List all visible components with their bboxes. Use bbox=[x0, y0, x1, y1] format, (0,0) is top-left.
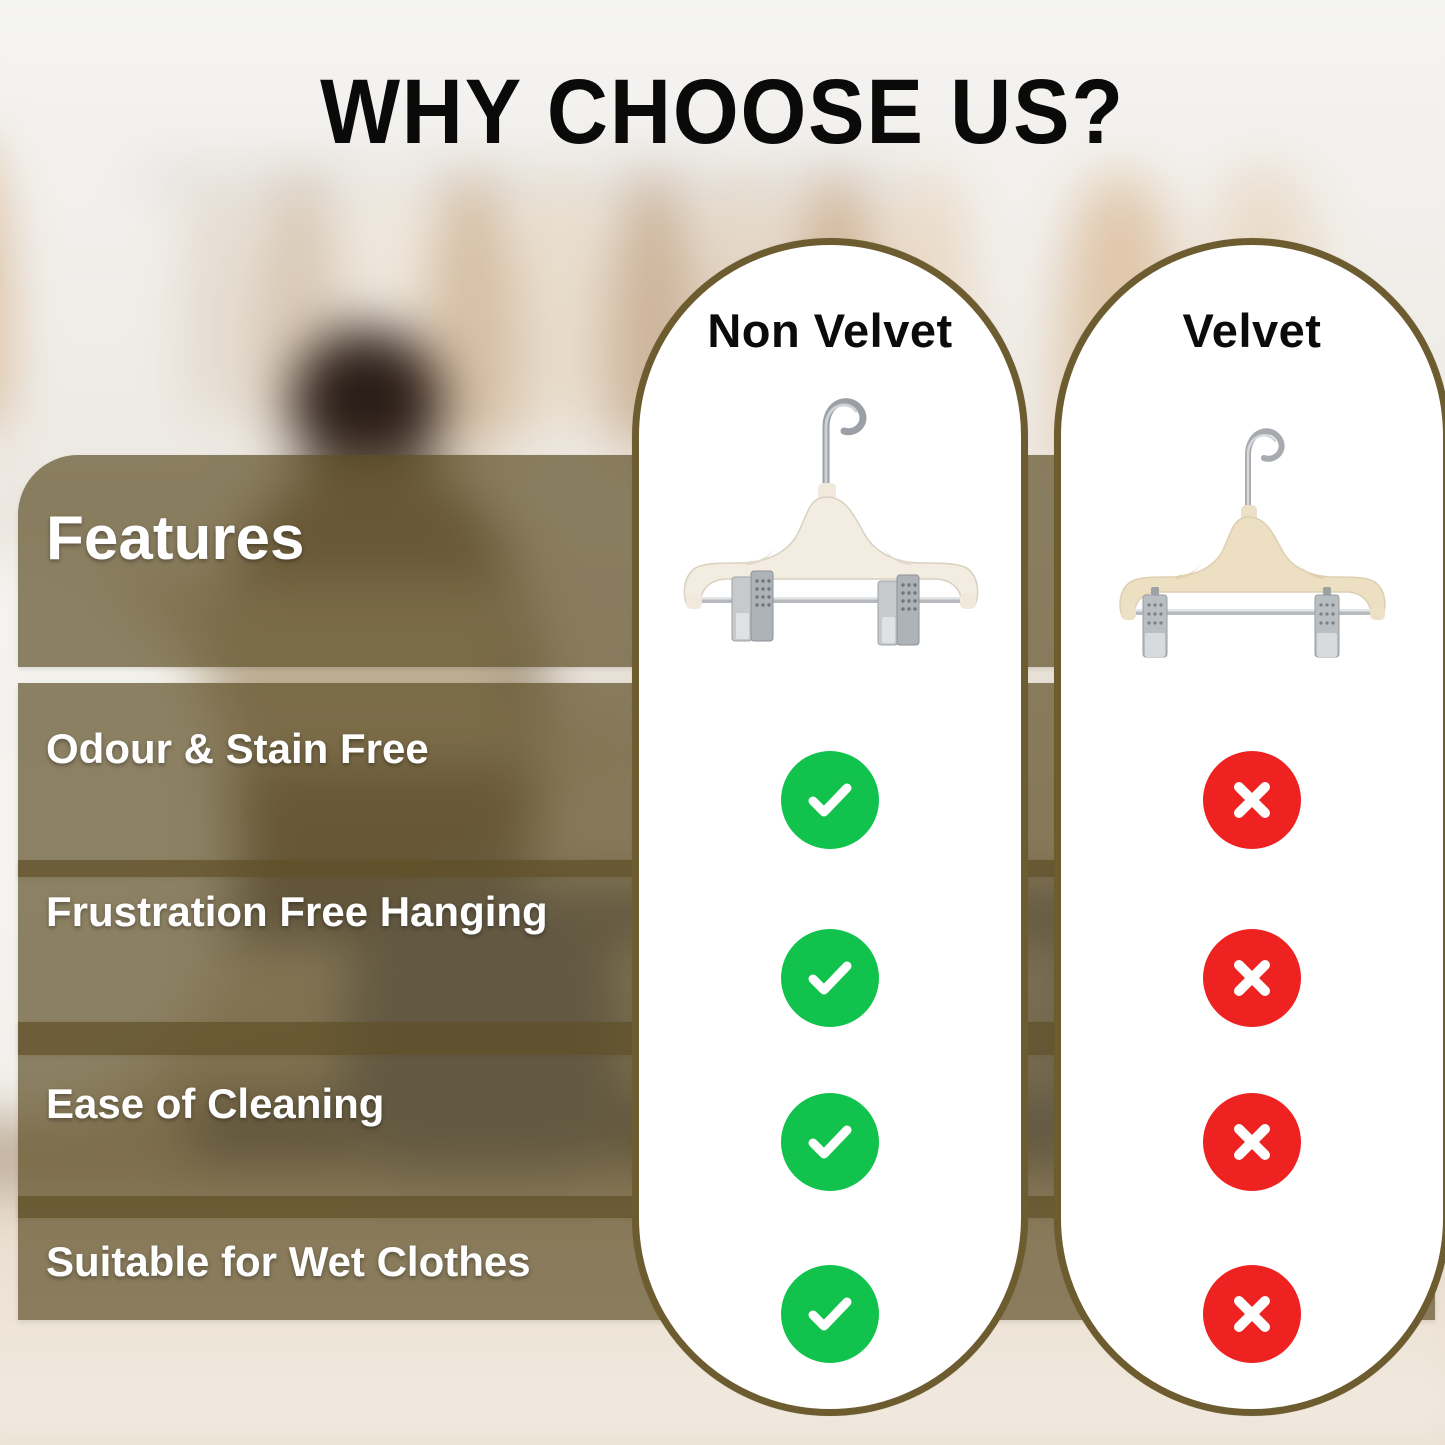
why-choose-us-comparison-graphic: WHY CHOOSE US? Features Odour & Stain Fr… bbox=[0, 0, 1445, 1445]
features-header-label: Features bbox=[46, 503, 304, 574]
page-title: WHY CHOOSE US? bbox=[58, 66, 1387, 158]
check-circle-icon bbox=[781, 1093, 879, 1191]
cross-circle-icon bbox=[1203, 751, 1301, 849]
cross-circle-icon bbox=[1203, 1265, 1301, 1363]
feature-label-0: Odour & Stain Free bbox=[46, 725, 429, 773]
cross-circle-icon bbox=[1203, 1093, 1301, 1191]
check-circle-icon bbox=[781, 929, 879, 1027]
velvet-mark-column bbox=[1061, 245, 1443, 1409]
cross-circle-icon bbox=[1203, 929, 1301, 1027]
feature-label-3: Suitable for Wet Clothes bbox=[46, 1238, 531, 1286]
check-circle-icon bbox=[781, 1265, 879, 1363]
feature-label-2: Ease of Cleaning bbox=[46, 1080, 384, 1128]
check-circle-icon bbox=[781, 751, 879, 849]
column-panel-velvet: Velvet bbox=[1054, 238, 1445, 1416]
column-panel-non-velvet: Non Velvet bbox=[632, 238, 1028, 1416]
feature-label-1: Frustration Free Hanging bbox=[46, 888, 548, 936]
non-velvet-mark-column bbox=[639, 245, 1021, 1409]
